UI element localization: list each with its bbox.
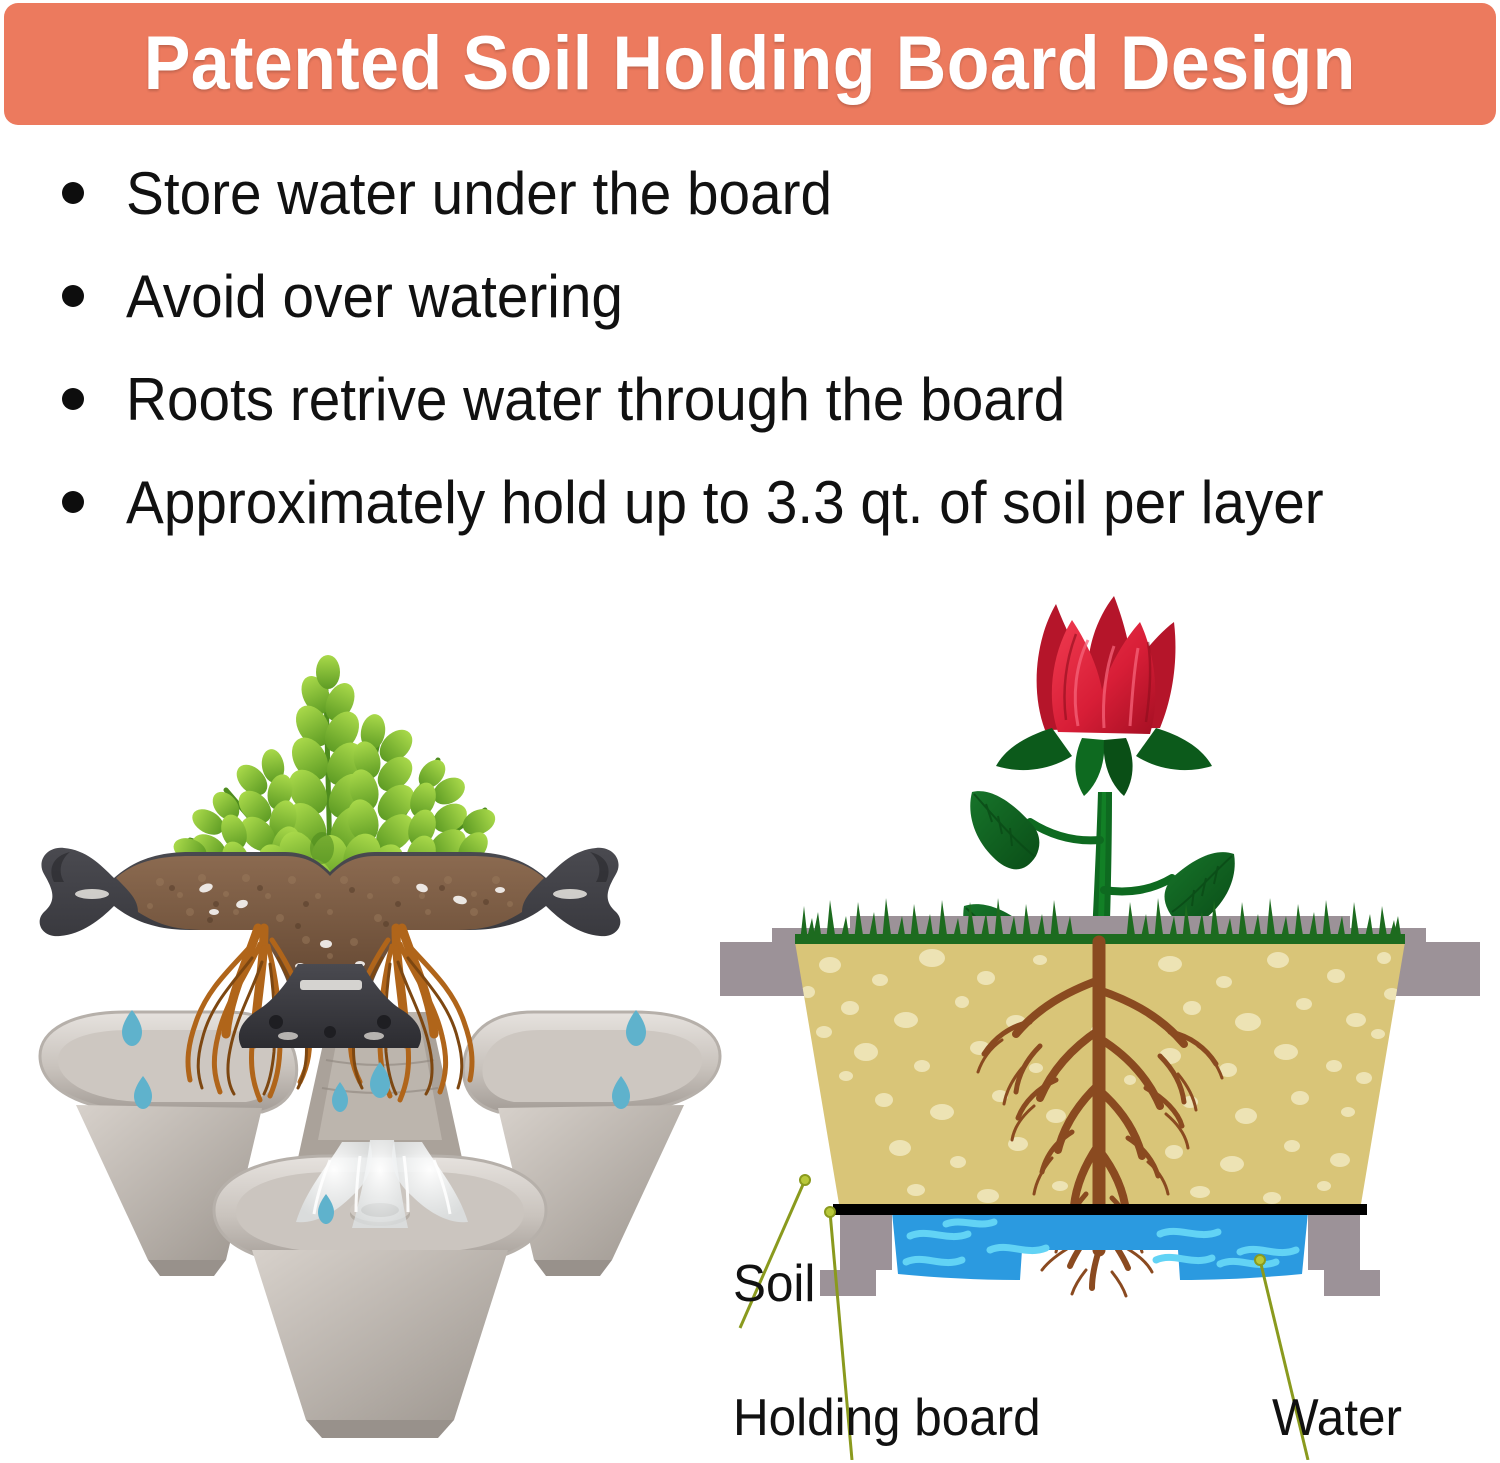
list-item-label: Store water under the board — [126, 151, 832, 237]
bullet-dot-icon — [62, 182, 84, 204]
product-photo-illustration — [30, 560, 730, 1440]
feature-list: Store water under the board Avoid over w… — [50, 148, 1490, 560]
rose-flower — [996, 596, 1212, 796]
list-item: Store water under the board — [50, 148, 1490, 251]
header-banner: Patented Soil Holding Board Design — [4, 3, 1496, 125]
bullet-dot-icon — [62, 388, 84, 410]
product-photo — [30, 560, 730, 1440]
callout-label-water: Water — [1272, 1392, 1402, 1444]
list-item: Avoid over watering — [50, 251, 1490, 354]
list-item-label: Roots retrive water through the board — [126, 357, 1065, 443]
infographic-canvas: Patented Soil Holding Board Design Store… — [0, 0, 1500, 1463]
bullet-dot-icon — [62, 285, 84, 307]
cross-section-illustration — [700, 560, 1500, 1460]
callout-label-soil: Soil — [733, 1258, 815, 1310]
list-item: Approximately hold up to 3.3 qt. of soil… — [50, 457, 1490, 560]
cross-section-diagram — [700, 560, 1500, 1460]
soil-holding-board-lower — [239, 964, 421, 1048]
holding-board-line — [833, 1204, 1367, 1215]
list-item-label: Approximately hold up to 3.3 qt. of soil… — [126, 460, 1324, 546]
bullet-dot-icon — [62, 491, 84, 513]
callout-label-holding-board: Holding board — [733, 1392, 1041, 1444]
list-item: Roots retrive water through the board — [50, 354, 1490, 457]
water-reservoir — [892, 1212, 1308, 1280]
list-item-label: Avoid over watering — [126, 254, 623, 340]
page-title: Patented Soil Holding Board Design — [144, 26, 1356, 102]
